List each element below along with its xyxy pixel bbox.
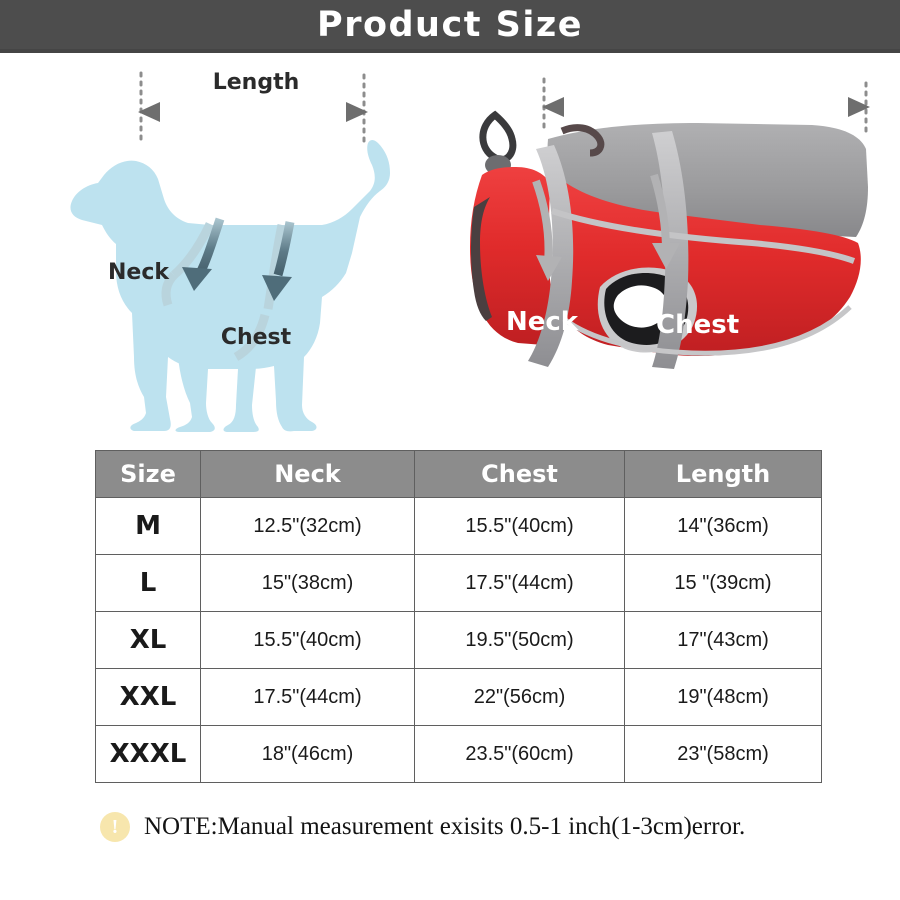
exclamation-icon: ! (100, 812, 130, 842)
cell-neck: 18"(46cm) (201, 726, 415, 783)
size-chart-table: Size Neck Chest Length M 12.5"(32cm) 15.… (95, 450, 822, 783)
table-row: L 15"(38cm) 17.5"(44cm) 15 "(39cm) (96, 555, 822, 612)
table-row: XXXL 18"(46cm) 23.5"(60cm) 23"(58cm) (96, 726, 822, 783)
table-row: M 12.5"(32cm) 15.5"(40cm) 14"(36cm) (96, 498, 822, 555)
page-title: Product Size (317, 5, 583, 45)
dog-silhouette-measurement-diagram: Length Neck Chest (60, 57, 450, 432)
page-header-banner: Product Size (0, 0, 900, 53)
dog-chest-label: Chest (221, 325, 292, 350)
illustration-band: Length Neck Chest (0, 57, 900, 432)
cell-length: 23"(58cm) (625, 726, 822, 783)
table-row: XXL 17.5"(44cm) 22"(56cm) 19"(48cm) (96, 669, 822, 726)
cell-size: L (96, 555, 201, 612)
column-header-size: Size (96, 451, 201, 498)
red-dog-coat-measurement-photo: Length Neck Chest (440, 57, 890, 432)
cell-neck: 17.5"(44cm) (201, 669, 415, 726)
cell-neck: 15"(38cm) (201, 555, 415, 612)
cell-length: 14"(36cm) (625, 498, 822, 555)
cell-chest: 15.5"(40cm) (415, 498, 625, 555)
dog-length-label: Length (213, 70, 300, 95)
table-header-row: Size Neck Chest Length (96, 451, 822, 498)
column-header-chest: Chest (415, 451, 625, 498)
cell-chest: 19.5"(50cm) (415, 612, 625, 669)
note-text: NOTE:Manual measurement exisits 0.5-1 in… (144, 813, 745, 841)
table-row: XL 15.5"(40cm) 19.5"(50cm) 17"(43cm) (96, 612, 822, 669)
cell-length: 15 "(39cm) (625, 555, 822, 612)
column-header-length: Length (625, 451, 822, 498)
dog-neck-label: Neck (108, 260, 170, 285)
measurement-note: ! NOTE:Manual measurement exisits 0.5-1 … (100, 812, 745, 842)
cell-size: M (96, 498, 201, 555)
coat-neck-label: Neck (506, 307, 579, 337)
dog-body-shape (70, 140, 390, 432)
cell-length: 19"(48cm) (625, 669, 822, 726)
length-arrow (138, 102, 368, 122)
coat-collar-loop (483, 115, 513, 175)
cell-chest: 17.5"(44cm) (415, 555, 625, 612)
coat-chest-label: Chest (656, 310, 739, 340)
cell-neck: 15.5"(40cm) (201, 612, 415, 669)
cell-size: XXXL (96, 726, 201, 783)
cell-size: XXL (96, 669, 201, 726)
coat-length-label: Length (657, 95, 747, 121)
cell-size: XL (96, 612, 201, 669)
cell-neck: 12.5"(32cm) (201, 498, 415, 555)
cell-chest: 22"(56cm) (415, 669, 625, 726)
cell-length: 17"(43cm) (625, 612, 822, 669)
cell-chest: 23.5"(60cm) (415, 726, 625, 783)
column-header-neck: Neck (201, 451, 415, 498)
size-chart-table-container: Size Neck Chest Length M 12.5"(32cm) 15.… (95, 450, 821, 783)
